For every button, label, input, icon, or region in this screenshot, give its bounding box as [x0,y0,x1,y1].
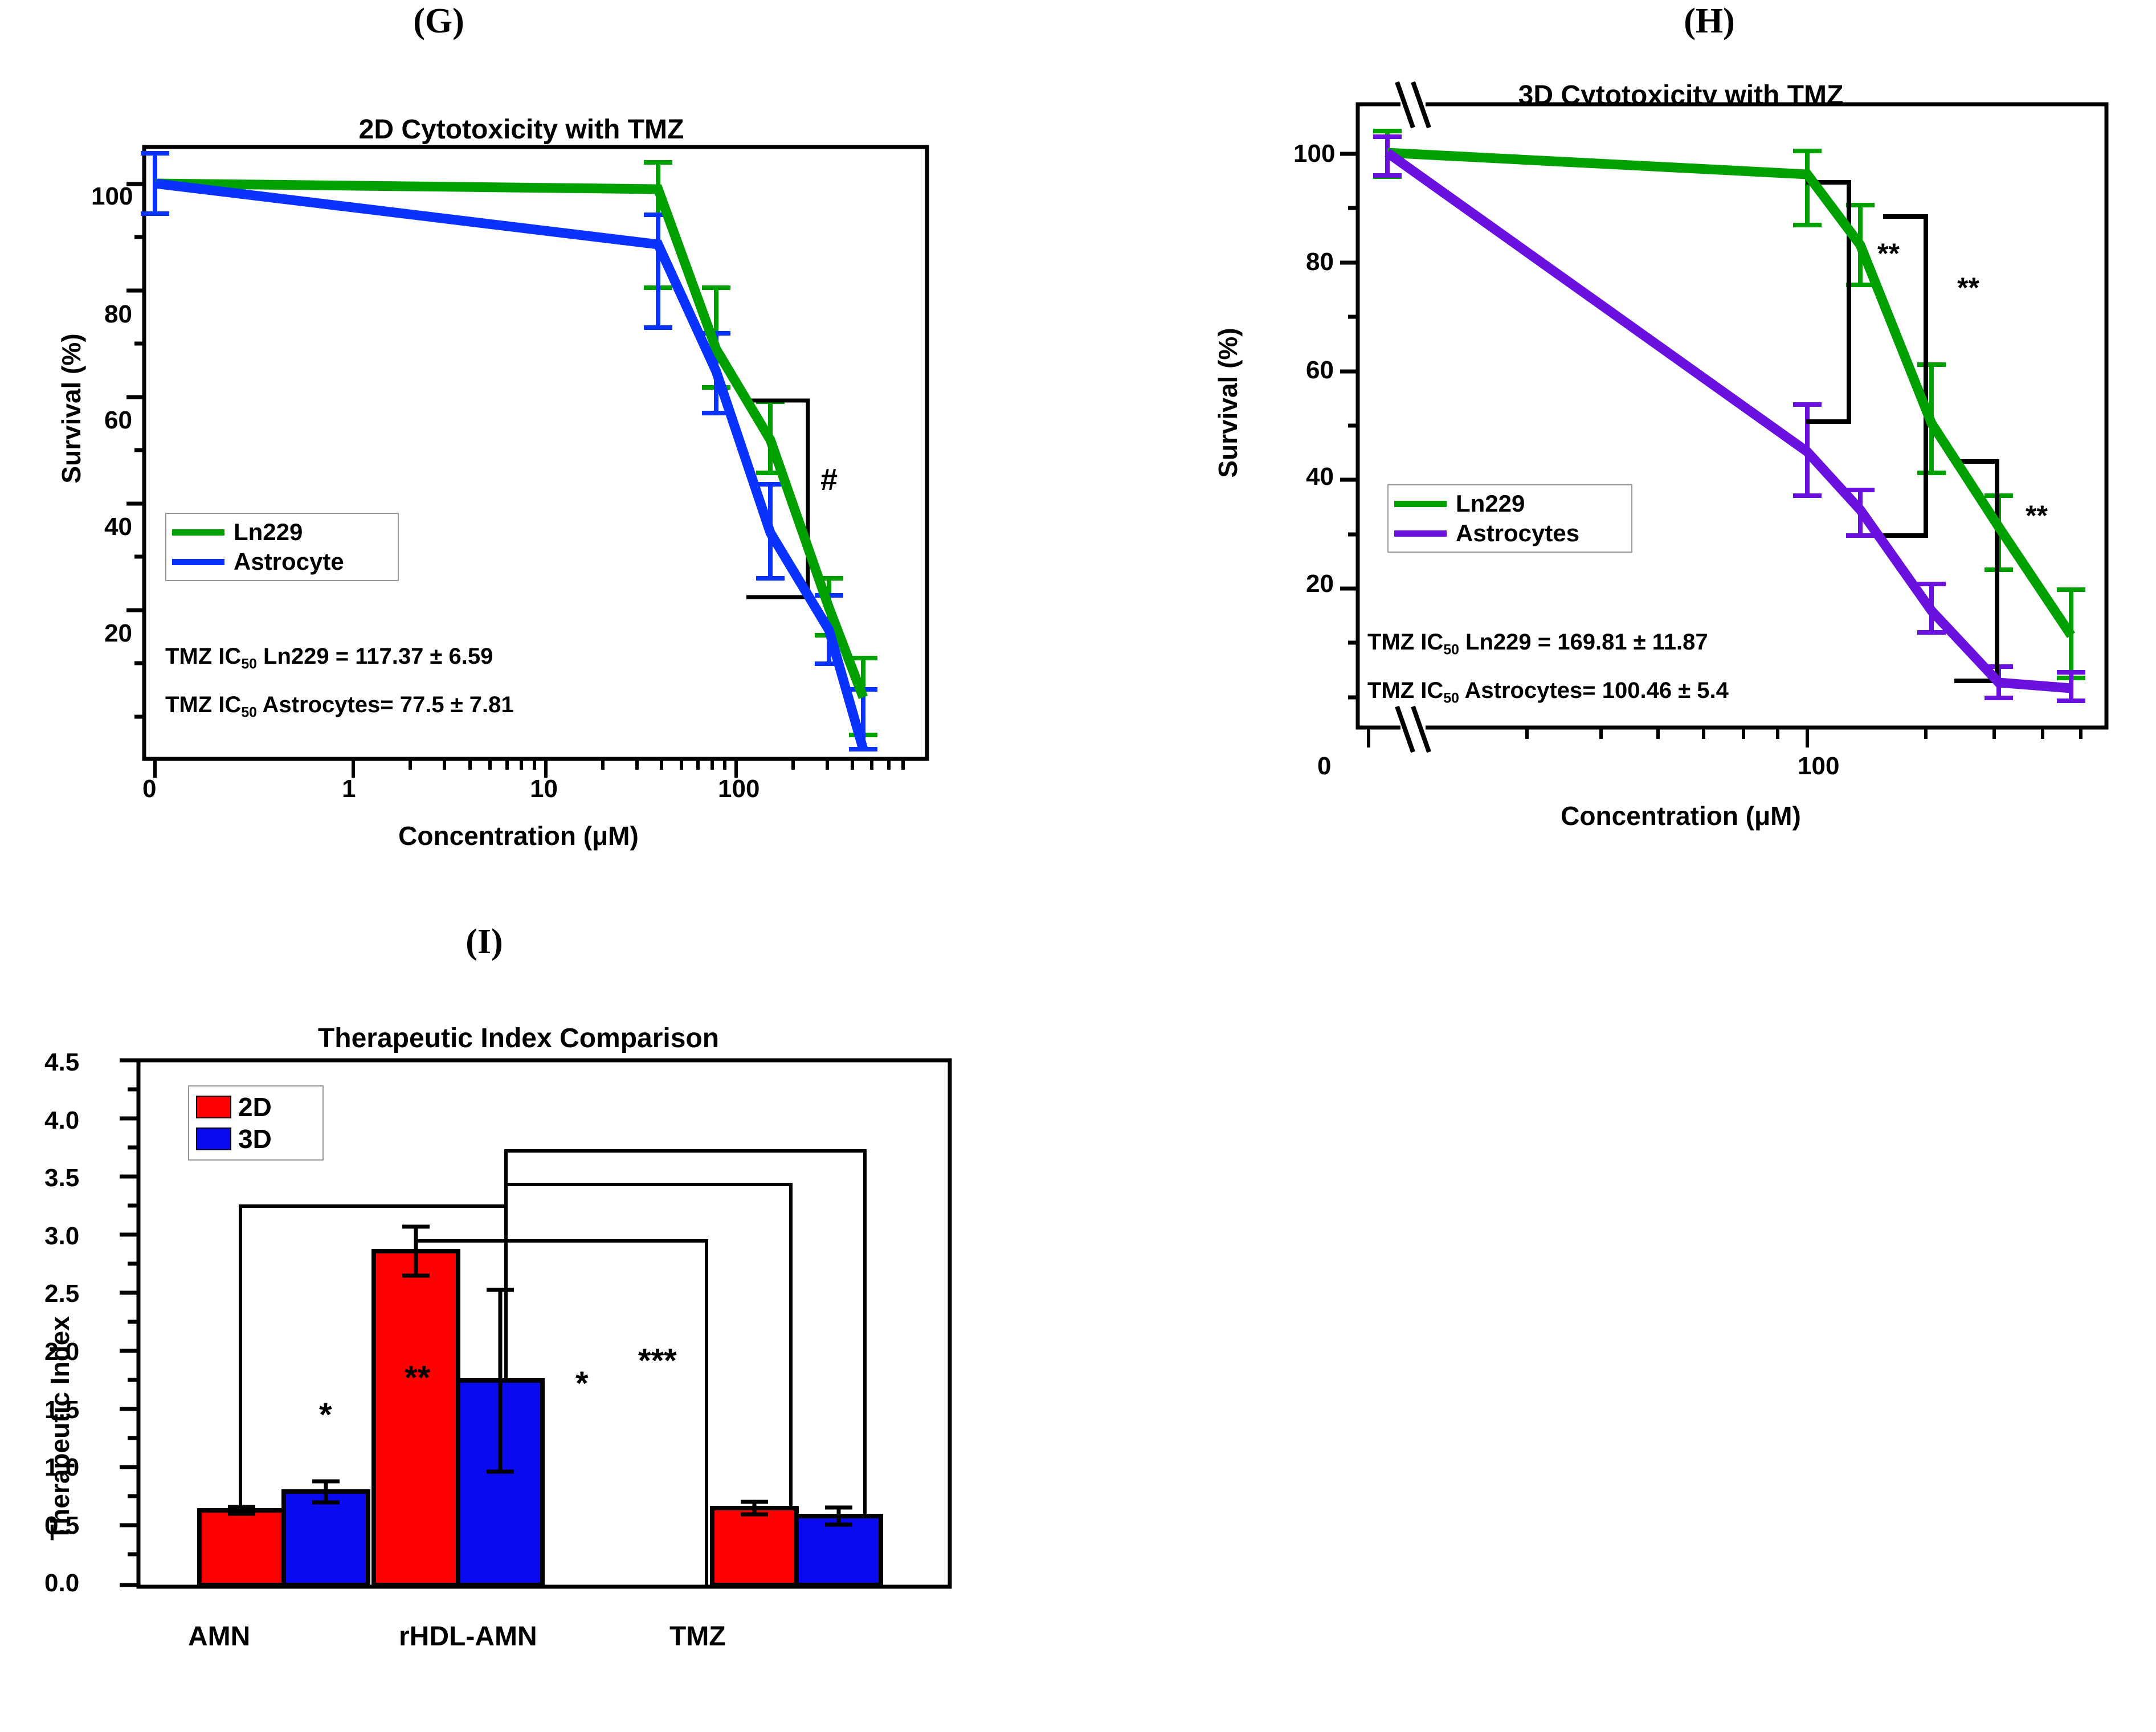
panel-g-ic50-ln229-sub: 50 [241,657,257,672]
panel-h-legend-swatch-ln229 [1394,501,1447,507]
panel-i-sig-star-3: * [575,1367,589,1400]
panel-h-sig-2: ** [1957,273,1979,302]
panel-i-sig-star-4: *** [638,1345,677,1378]
panel-i-sig-star-1: * [319,1399,332,1432]
panel-g-ytick-100: 100 [91,182,133,211]
panel-h-sig-1: ** [1877,239,1900,268]
panel-h-ytick-20: 20 [1306,570,1334,598]
panel-i-xtick-tmz: TMZ [669,1621,726,1652]
panel-g-ytick-60: 60 [104,406,132,435]
panel-h-ic50-ln229-post: Ln229 = 169.81 ± 11.87 [1459,630,1708,655]
panel-g-ic50-ln229: TMZ IC50 Ln229 = 117.37 ± 6.59 [165,644,493,673]
panel-g-ytick-20: 20 [104,619,132,648]
panel-i-ytick-2-5: 2.5 [44,1280,79,1308]
panel-g-x-axis-title: Concentration (μM) [205,820,832,851]
panel-i-legend-item-2d: 2D [196,1091,316,1123]
panel-h-ic50-astrocytes-pre: TMZ IC [1367,678,1443,703]
panel-i-legend-swatch-2d [196,1096,231,1118]
panel-g-title: 2D Cytotoxicity with TMZ [114,114,929,145]
panel-h-legend: Ln229 Astrocytes [1387,484,1632,553]
panel-h-xtick-0: 0 [1317,752,1331,781]
panel-h-legend-swatch-astrocytes [1394,530,1447,537]
panel-g-ic50-astrocytes-pre: TMZ IC [165,692,241,717]
panel-g-ic50-astrocytes-post: Astrocytes= 77.5 ± 7.81 [257,692,514,717]
panel-i-legend-label-2d: 2D [238,1094,272,1120]
panel-h-ytick-80: 80 [1306,248,1334,276]
panel-i-legend: 2D 3D [188,1085,324,1161]
panel-h-ic50-ln229-sub: 50 [1443,643,1459,658]
panel-g-xtick-100: 100 [718,775,759,803]
panel-h-legend-item-ln229: Ln229 [1394,489,1622,518]
panel-i-bar-amn-3d [284,1492,368,1585]
panel-i-ytick-1-5: 1.5 [44,1396,79,1424]
panel-i-bar-rhdl-2d [374,1251,458,1585]
panel-i-ytick-1-0: 1.0 [44,1453,79,1482]
panel-h-ytick-60: 60 [1306,356,1334,385]
panel-g-ic50-astrocytes-sub: 50 [241,705,257,721]
panel-g-legend-item-ln229: Ln229 [172,517,389,547]
panel-g-legend-item-astrocyte: Astrocyte [172,547,389,577]
panel-h-letter: (H) [1624,1,1795,42]
panel-h-ic50-astrocytes-post: Astrocytes= 100.46 ± 5.4 [1459,678,1729,703]
panel-g-legend-swatch-ln229 [172,529,224,536]
panel-g-ytick-80: 80 [104,300,132,329]
panel-h-x-axis-title: Concentration (μM) [1396,800,1966,831]
panel-h-legend-item-astrocytes: Astrocytes [1394,518,1622,548]
panel-h-ic50-ln229-pre: TMZ IC [1367,630,1443,655]
panel-h-sig-3: ** [2026,501,2048,530]
panel-i-legend-item-3d: 3D [196,1123,316,1155]
panel-i-legend-label-3d: 3D [238,1126,272,1152]
panel-i: (I) Therapeutic Index Comparison Therape… [0,912,1026,1732]
panel-i-ytick-4-5: 4.5 [44,1048,79,1077]
panel-i-sig-star-2: ** [405,1362,430,1395]
panel-h-ic50-ln229: TMZ IC50 Ln229 = 169.81 ± 11.87 [1367,630,1708,659]
panel-h-ic50-astrocytes: TMZ IC50 Astrocytes= 100.46 ± 5.4 [1367,678,1729,707]
panel-i-bar-amn-2d [199,1510,284,1585]
panel-h-legend-label-astrocytes: Astrocytes [1456,521,1579,545]
panel-g-letter: (G) [353,1,524,42]
panel-g-xtick-1: 1 [342,775,356,803]
panel-i-bar-tmz-2d [712,1508,797,1585]
panel-g: (G) 2D Cytotoxicity with TMZ Survival (%… [0,0,1026,889]
panel-i-xtick-amn: AMN [188,1621,250,1652]
panel-g-ic50-ln229-pre: TMZ IC [165,644,241,669]
panel-i-ytick-0-5: 0.5 [44,1512,79,1540]
panel-g-xtick-10: 10 [530,775,558,803]
panel-i-legend-swatch-3d [196,1128,231,1150]
panel-g-ytick-40: 40 [104,513,132,541]
panel-i-ytick-0-0: 0.0 [44,1569,79,1598]
panel-i-letter: (I) [399,922,570,962]
panel-i-y-axis-title: Therapeutic Index [44,1263,75,1594]
panel-g-y-axis-title: Survival (%) [56,306,87,511]
panel-h: (H) 3D Cytotoxicity with TMZ Survival (%… [1083,0,2156,889]
panel-g-legend: Ln229 Astrocyte [165,513,399,581]
panel-i-ytick-4-0: 4.0 [44,1106,79,1135]
panel-g-legend-label-ln229: Ln229 [234,520,303,544]
panel-g-ic50-astrocytes: TMZ IC50 Astrocytes= 77.5 ± 7.81 [165,692,514,721]
panel-h-y-axis-title: Survival (%) [1212,300,1243,505]
panel-g-legend-label-astrocyte: Astrocyte [234,550,344,574]
panel-g-xtick-0: 0 [142,775,156,803]
panel-h-ic50-astrocytes-sub: 50 [1443,691,1459,706]
panel-g-sig-hash: # [820,464,838,495]
panel-g-ic50-ln229-post: Ln229 = 117.37 ± 6.59 [257,644,493,669]
panel-i-ytick-2-0: 2.0 [44,1338,79,1366]
panel-i-xtick-rhdl-amn: rHDL-AMN [399,1621,537,1652]
panel-i-ytick-3-0: 3.0 [44,1222,79,1251]
panel-h-legend-label-ln229: Ln229 [1456,492,1525,516]
panel-h-ytick-40: 40 [1306,463,1334,491]
panel-i-title: Therapeutic Index Comparison [103,1023,934,1054]
panel-h-xtick-100: 100 [1798,752,1839,781]
panel-g-legend-swatch-astrocyte [172,559,224,565]
panel-h-ytick-100: 100 [1293,140,1335,168]
panel-i-ytick-3-5: 3.5 [44,1164,79,1192]
